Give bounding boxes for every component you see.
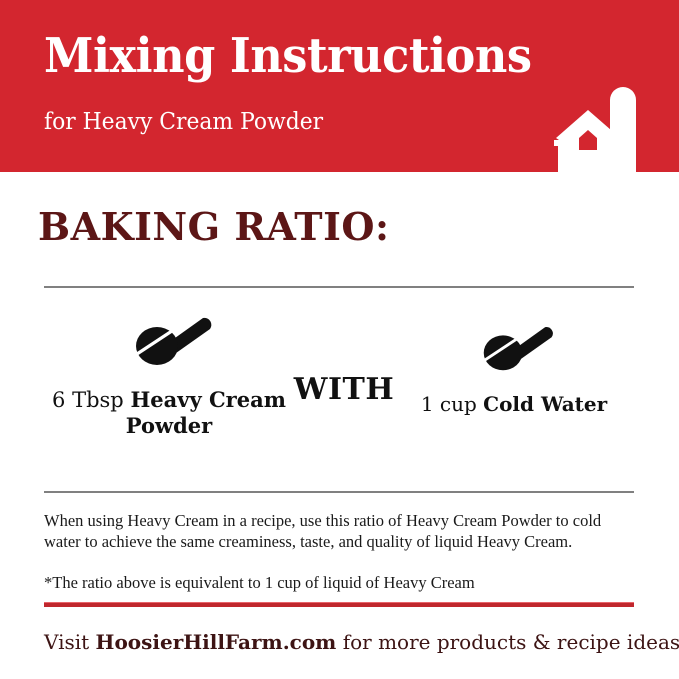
- footer-trail-text: for more products & recipe ideas.: [336, 630, 679, 654]
- divider-accent-red: [44, 602, 634, 607]
- website-link[interactable]: HoosierHillFarm.com: [96, 630, 337, 654]
- ratio-note: *The ratio above is equivalent to 1 cup …: [44, 572, 630, 593]
- infographic-page: Mixing Instructions for Heavy Cream Powd…: [0, 0, 679, 679]
- divider-top: [44, 286, 634, 288]
- ratio-item-powder: 6 Tbsp Heavy Cream Powder: [44, 308, 294, 439]
- water-amount: 1 cup: [421, 392, 483, 416]
- powder-ingredient: Heavy Cream Powder: [126, 387, 286, 438]
- page-subtitle: for Heavy Cream Powder: [44, 108, 323, 136]
- measuring-spoon-icon: [394, 318, 634, 378]
- page-title: Mixing Instructions: [44, 28, 532, 84]
- ratio-row: 6 Tbsp Heavy Cream Powder WITH 1 cup Col…: [44, 300, 634, 480]
- ratio-item-water-caption: 1 cup Cold Water: [394, 392, 634, 417]
- section-heading: BAKING RATIO:: [38, 204, 390, 250]
- body-paragraph: When using Heavy Cream in a recipe, use …: [44, 510, 630, 552]
- divider-bottom: [44, 491, 634, 493]
- ratio-item-powder-caption: 6 Tbsp Heavy Cream Powder: [44, 387, 294, 439]
- footer-lead-text: Visit: [44, 630, 96, 654]
- footer-callout: Visit HoosierHillFarm.com for more produ…: [44, 628, 634, 656]
- ratio-item-water: 1 cup Cold Water: [394, 318, 634, 417]
- measuring-spoon-icon: [44, 308, 294, 373]
- ratio-connector: WITH: [289, 373, 399, 407]
- barn-silo-icon: [548, 84, 652, 172]
- water-ingredient: Cold Water: [483, 392, 607, 416]
- powder-amount: 6 Tbsp: [52, 388, 130, 412]
